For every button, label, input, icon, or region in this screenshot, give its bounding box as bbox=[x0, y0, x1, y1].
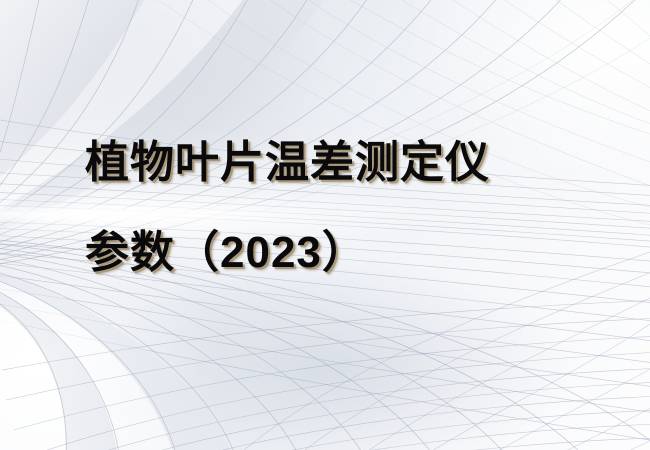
title-line-primary: 植物叶片温差测定仪 bbox=[85, 118, 605, 208]
title-slide: 植物叶片温差测定仪 参数（2023） bbox=[0, 0, 650, 450]
mesh-grid-diagonal-a bbox=[2, 300, 650, 450]
slide-title-block: 植物叶片温差测定仪 参数（2023） bbox=[85, 118, 605, 298]
title-line-secondary: 参数（2023） bbox=[85, 208, 605, 298]
